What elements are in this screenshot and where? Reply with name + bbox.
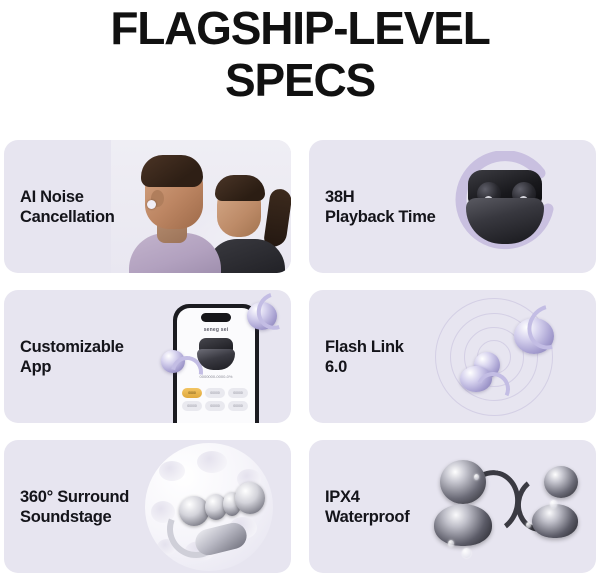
spec-label-flash-link: Flash Link 6.0 xyxy=(325,337,404,377)
exploded-driver-assembly-icon xyxy=(165,474,261,538)
couple-photo xyxy=(111,140,291,273)
chrome-earbud-back-icon xyxy=(514,466,586,554)
app-preset-chip[interactable]: 00000 xyxy=(228,401,248,411)
spec-label-customizable-app: Customizable App xyxy=(20,337,124,377)
spec-card-customizable-app[interactable]: seneg sei 0000000-0000-0% 0000 00000 000… xyxy=(4,290,291,423)
purple-earbud-large-icon xyxy=(243,292,289,336)
charging-case-icon xyxy=(466,170,544,244)
spec-card-surround-soundstage[interactable]: 360° Surround Soundstage xyxy=(4,440,291,573)
woman-ponytail xyxy=(263,188,291,248)
app-preset-chip[interactable]: 00000 xyxy=(228,388,248,398)
man-hair xyxy=(141,155,203,187)
woman-hair xyxy=(215,175,265,201)
driver-housing xyxy=(179,496,209,526)
app-preset-chip[interactable]: 00000 xyxy=(182,401,202,411)
chrome-earbud-front-icon xyxy=(434,456,520,560)
spec-label-waterproof: IPX4 Waterproof xyxy=(325,487,409,527)
spec-card-playback-time[interactable]: 38H Playback Time xyxy=(309,140,596,273)
purple-earbud-lower-icon xyxy=(460,352,512,402)
spec-card-grid: AI Noise Cancellation 38H Playback T xyxy=(4,140,596,573)
spec-label-ai-noise-cancellation: AI Noise Cancellation xyxy=(20,187,115,227)
spec-card-waterproof[interactable]: IPX4 Waterproof xyxy=(309,440,596,573)
spec-label-playback-time: 38H Playback Time xyxy=(325,187,435,227)
spec-label-surround-soundstage: 360° Surround Soundstage xyxy=(20,487,129,527)
case-base xyxy=(466,198,544,244)
app-preset-chip[interactable]: 00000 xyxy=(205,401,225,411)
spec-card-ai-noise-cancellation[interactable]: AI Noise Cancellation xyxy=(4,140,291,273)
phone-notch xyxy=(201,313,231,322)
purple-earbud-small-icon xyxy=(161,346,199,382)
earbud-in-ear-icon xyxy=(147,200,156,209)
app-case-illustration xyxy=(197,338,235,370)
infographic-page: FLAGSHIP-LEVEL SPECS AI Noise Canc xyxy=(0,0,600,570)
app-preset-chip[interactable]: 00000 xyxy=(205,388,225,398)
purple-earbud-upper-icon xyxy=(512,304,568,360)
app-preset-chip-list: 0000 00000 00000 00000 00000 00000 xyxy=(182,388,250,411)
spec-card-flash-link[interactable]: Flash Link 6.0 xyxy=(309,290,596,423)
page-title: FLAGSHIP-LEVEL SPECS xyxy=(0,2,600,106)
app-preset-chip[interactable]: 0000 xyxy=(182,388,202,398)
driver-diaphragm xyxy=(235,482,265,514)
